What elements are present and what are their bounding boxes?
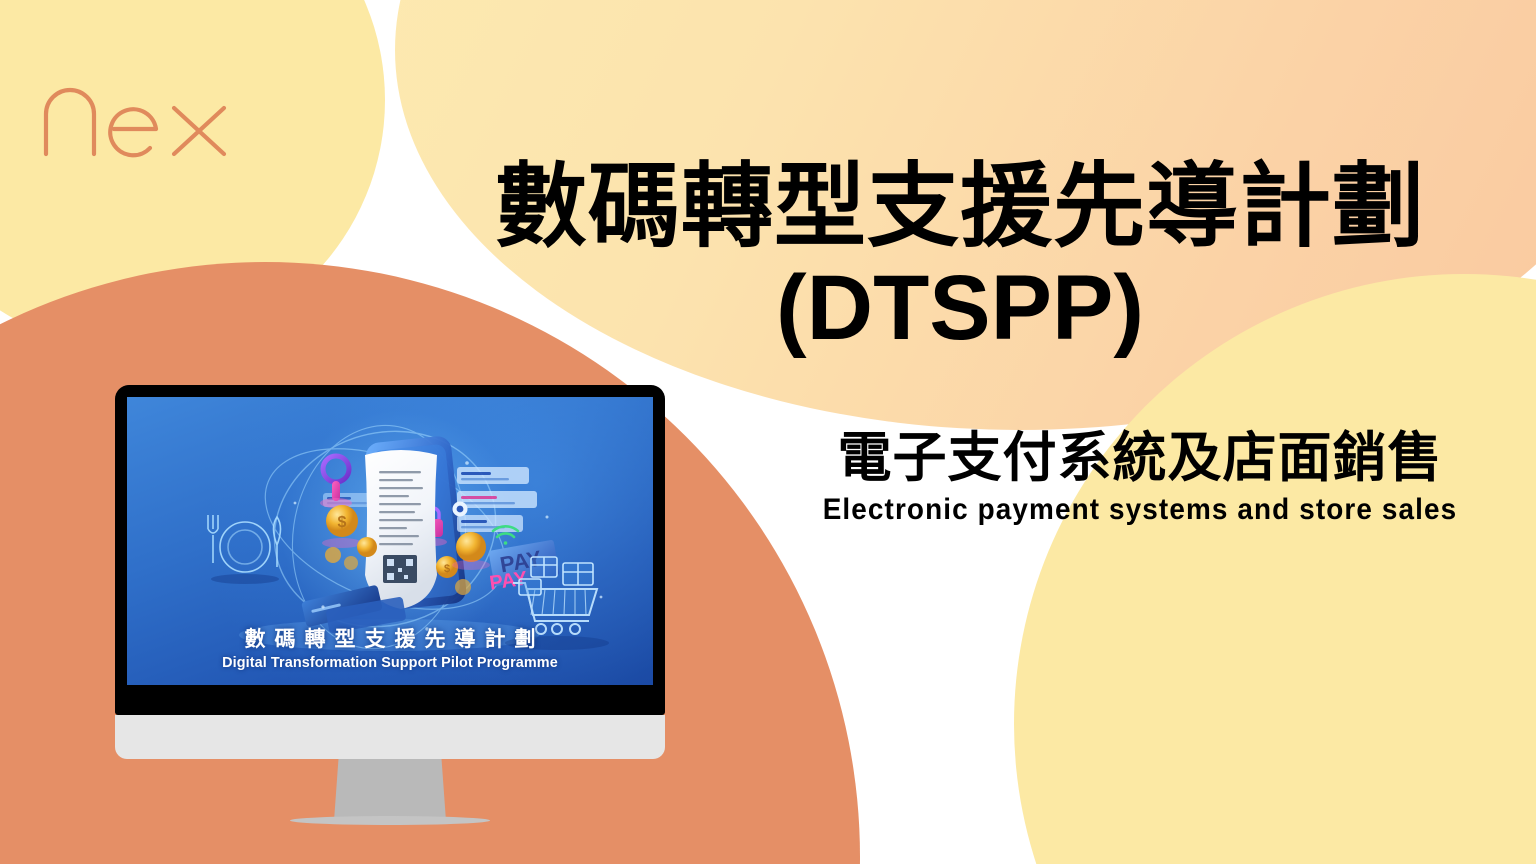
- slide-canvas: 數碼轉型支援先導計劃 (DTSPP) 電子支付系統及店面銷售 Electroni…: [0, 0, 1536, 864]
- nex-logo: [22, 62, 294, 174]
- page-title-abbreviation: (DTSPP): [400, 257, 1520, 360]
- support-icon: [453, 502, 468, 517]
- poster-title-english: Digital Transformation Support Pilot Pro…: [138, 654, 643, 673]
- page-subtitle-chinese: 電子支付系統及店面銷售: [760, 428, 1520, 488]
- poster-artwork: $ $: [127, 397, 653, 685]
- ornament-shapes: [320, 456, 352, 508]
- page-title-chinese: 數碼轉型支援先導計劃: [400, 158, 1520, 257]
- monitor-stand-neck: [334, 759, 446, 821]
- monitor-screen: $ $: [127, 397, 653, 685]
- monitor-chin: [115, 715, 665, 759]
- ui-panel-cards: [457, 467, 537, 532]
- desktop-monitor-mockup: $ $: [115, 385, 665, 777]
- page-title: 數碼轉型支援先導計劃 (DTSPP): [400, 158, 1520, 360]
- receipt-icon: [365, 450, 437, 609]
- page-subtitle-english: Electronic payment systems and store sal…: [787, 492, 1494, 528]
- svg-text:$: $: [338, 514, 347, 531]
- cutlery-icons: [208, 515, 281, 572]
- poster-title-chinese: 數碼轉型支援先導計劃: [127, 627, 653, 652]
- qr-code-icon: [383, 555, 417, 583]
- svg-text:$: $: [444, 563, 450, 575]
- page-subtitle: 電子支付系統及店面銷售 Electronic payment systems a…: [760, 428, 1520, 528]
- nex-logo-icon: [22, 62, 294, 174]
- poster-caption: 數碼轉型支援先導計劃 Digital Transformation Suppor…: [127, 627, 653, 673]
- monitor-stand-foot: [290, 816, 490, 825]
